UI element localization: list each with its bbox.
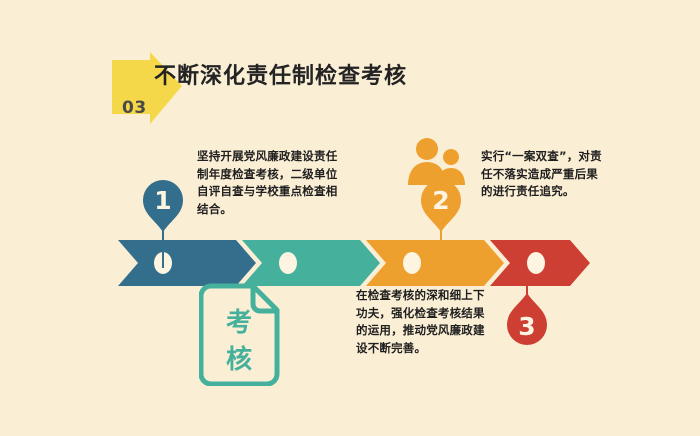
pin-2-label: 2 <box>432 186 449 215</box>
pin-1-label: 1 <box>154 186 171 215</box>
document-icon-char-2: 核 <box>226 344 252 375</box>
people-icon <box>403 137 465 185</box>
description-text-3: 在检查考核的深和细上下功夫，强化检查考核结果的运用，推动党风廉政建设不断完善。 <box>356 287 496 357</box>
description-text-1: 坚持开展党风廉政建设责任制年度检查考核，二级单位自评自查与学校重点检查相结合。 <box>197 148 349 218</box>
ribbon-segment-teal[interactable] <box>242 240 380 286</box>
pin-marker-2[interactable]: 2 <box>417 176 465 268</box>
document-icon-char-1: 考 <box>226 308 252 338</box>
pin-marker-1[interactable]: 1 <box>139 176 187 268</box>
section-number: 03 <box>122 98 147 118</box>
ribbon-dot-2 <box>279 252 297 274</box>
infographic-slide: 03 不断深化责任制检查考核 1 2 3 <box>0 0 700 436</box>
pin-marker-3[interactable]: 3 <box>503 283 551 349</box>
pin-3-label: 3 <box>518 312 535 341</box>
ribbon-dot-4 <box>527 252 545 274</box>
description-text-2: 实行“一案双查”，对责任不落实造成严重后果的进行责任追究。 <box>481 148 609 201</box>
document-assessment-icon: 考 核 <box>199 282 281 386</box>
page-title: 不断深化责任制检查考核 <box>154 58 407 90</box>
title-block: 03 不断深化责任制检查考核 <box>112 52 582 130</box>
process-ribbon <box>118 240 590 286</box>
